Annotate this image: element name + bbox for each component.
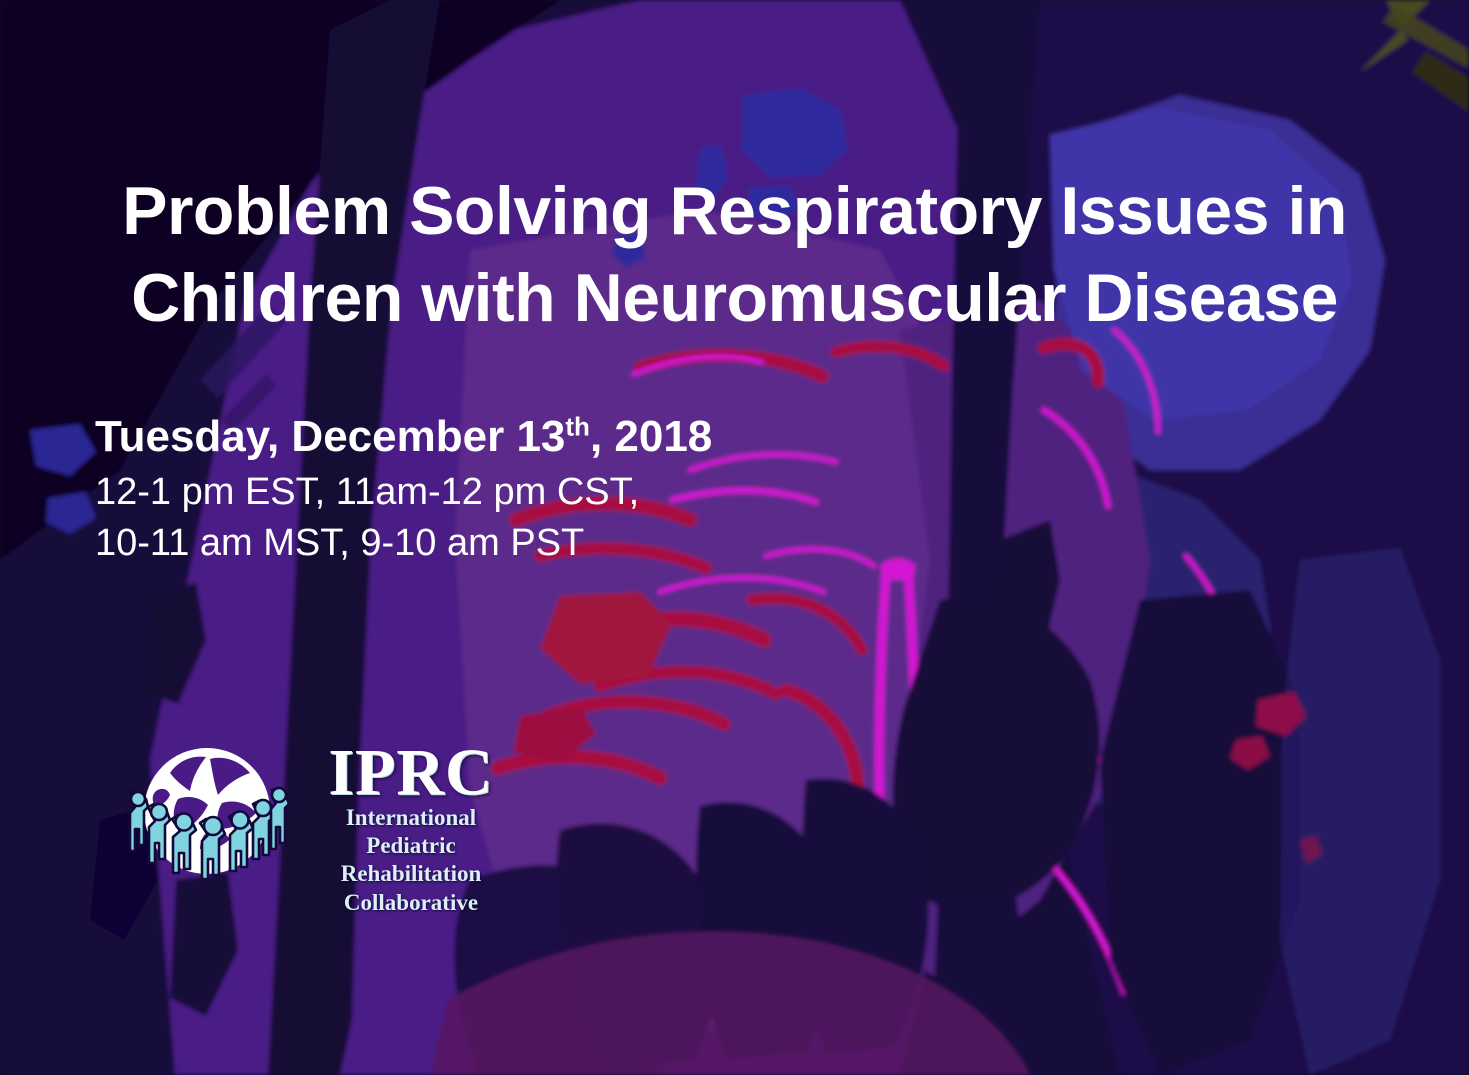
title-block: Problem Solving Respiratory Issues in Ch… <box>0 168 1469 342</box>
event-date-prefix: Tuesday, December 13 <box>95 412 565 461</box>
presentation-slide: Problem Solving Respiratory Issues in Ch… <box>0 0 1469 1075</box>
logo-wordmark: IPRC International Pediatric Rehabilitat… <box>296 741 526 917</box>
event-time-line-2: 10-11 am MST, 9-10 am PST <box>95 518 712 569</box>
event-date-ordinal-suffix: th <box>565 411 590 441</box>
iprc-logo: IPRC International Pediatric Rehabilitat… <box>118 733 518 923</box>
event-time-line-1: 12-1 pm EST, 11am-12 pm CST, <box>95 467 712 518</box>
logo-subtitle-line-3: Collaborative <box>296 889 526 917</box>
event-date-year: , 2018 <box>590 412 712 461</box>
page-title: Problem Solving Respiratory Issues in Ch… <box>0 168 1469 342</box>
globe-with-people-ring-icon <box>118 733 293 893</box>
logo-subtitle-line-2: Pediatric Rehabilitation <box>296 832 526 888</box>
event-date: Tuesday, December 13th, 2018 <box>95 412 712 461</box>
event-details-block: Tuesday, December 13th, 2018 12-1 pm EST… <box>95 412 712 568</box>
logo-acronym: IPRC <box>296 741 526 804</box>
